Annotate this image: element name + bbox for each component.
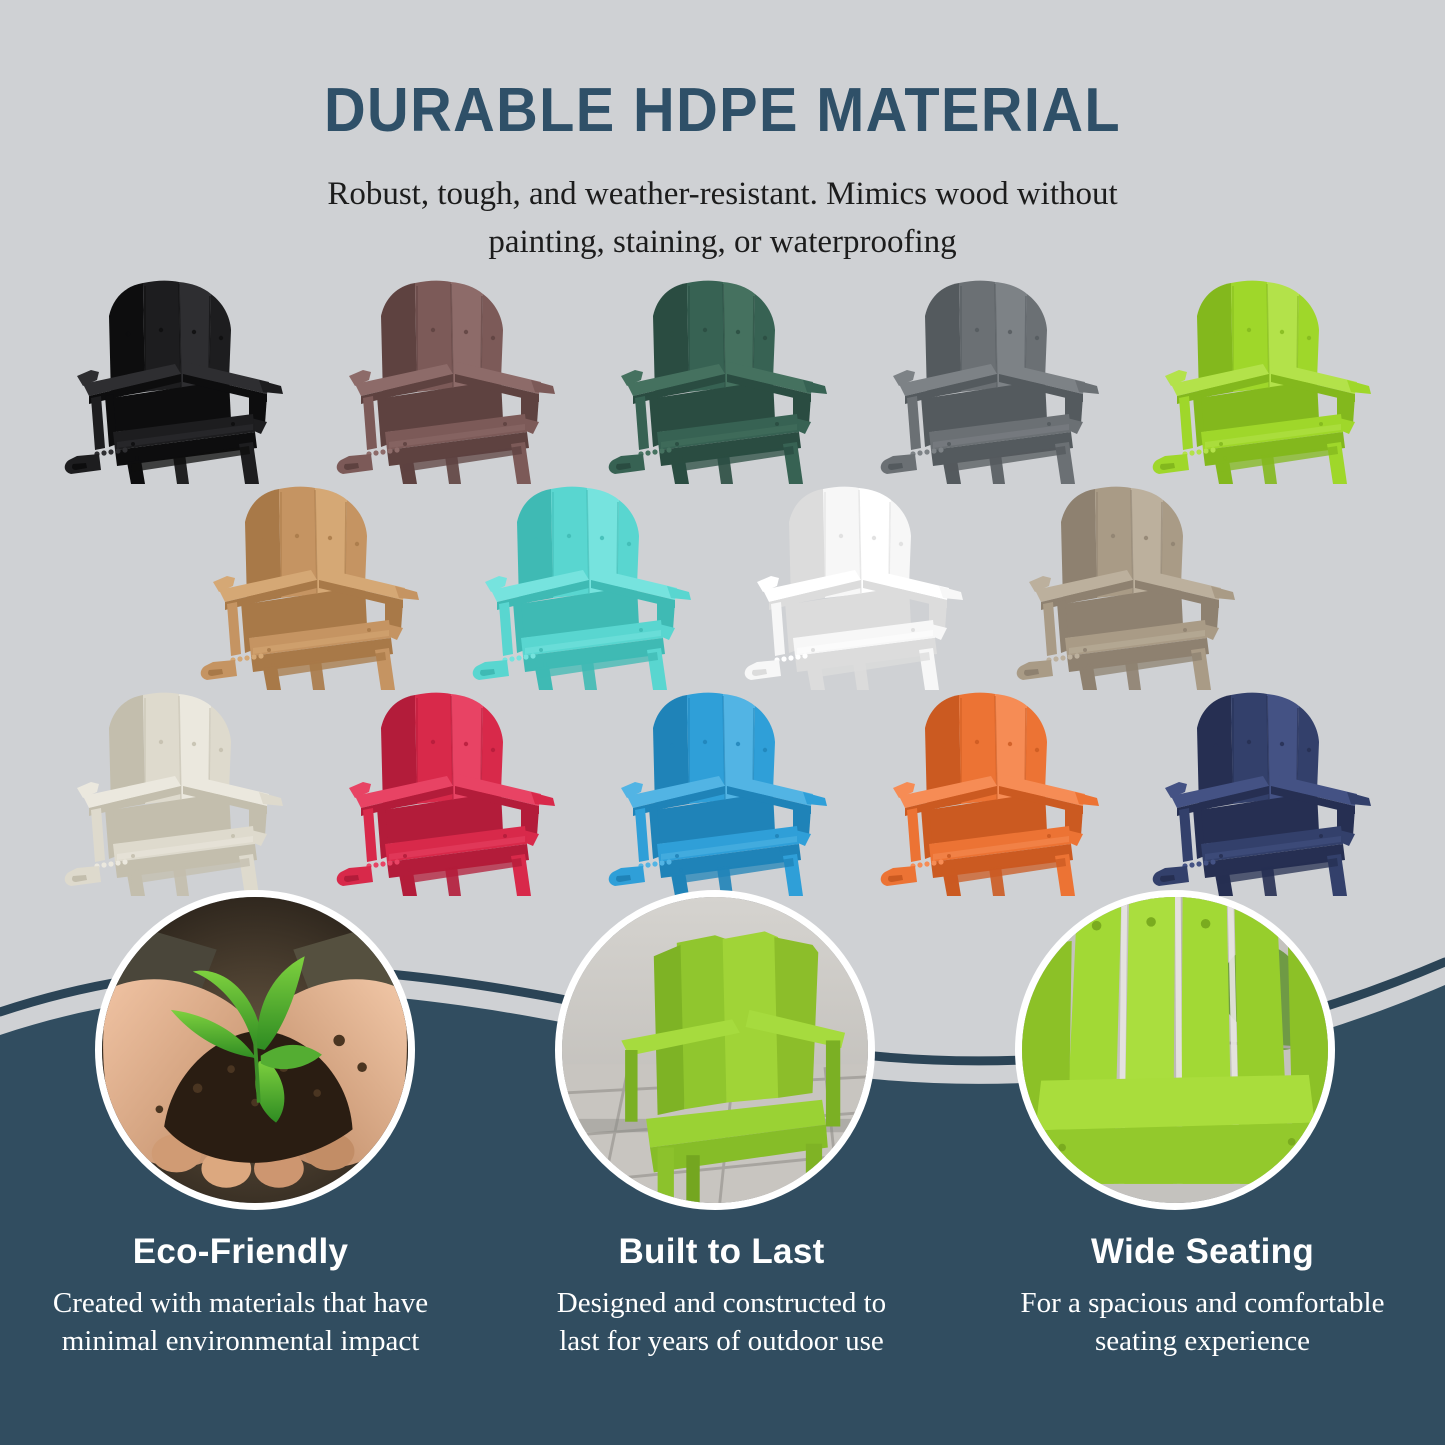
feature-title: Eco-Friendly bbox=[0, 1232, 481, 1272]
subtitle-line-1: Robust, tough, and weather-resistant. Mi… bbox=[327, 176, 1117, 212]
feature-desc-line-1: For a spacious and comfortable bbox=[1020, 1287, 1384, 1319]
feature-wide-seating: Wide Seating For a spacious and comforta… bbox=[962, 1232, 1443, 1361]
page-title: DURABLE HDPE MATERIAL bbox=[51, 0, 1395, 143]
chair-swatch-dark-green[interactable] bbox=[597, 272, 849, 484]
chair-swatch-gray[interactable] bbox=[869, 272, 1121, 484]
adirondack-chair-2-3 bbox=[880, 693, 1098, 896]
chair-swatch-white[interactable] bbox=[733, 478, 985, 690]
chair-row-2 bbox=[0, 478, 1445, 690]
chair-swatch-navy-blue[interactable] bbox=[1141, 684, 1393, 896]
adirondack-chair-0-3 bbox=[880, 281, 1098, 484]
adirondack-chair-1-1 bbox=[472, 487, 690, 690]
header: DURABLE HDPE MATERIAL Robust, tough, and… bbox=[0, 0, 1445, 267]
photo-eco-friendly bbox=[95, 890, 415, 1210]
chair-swatch-teak[interactable] bbox=[189, 478, 441, 690]
adirondack-chair-0-1 bbox=[336, 281, 554, 484]
feature-desc-line-2: seating experience bbox=[1095, 1325, 1310, 1357]
page-subtitle: Robust, tough, and weather-resistant. Mi… bbox=[223, 143, 1223, 267]
adirondack-chair-1-3 bbox=[1016, 487, 1234, 690]
chair-swatch-ivory[interactable] bbox=[53, 684, 305, 896]
adirondack-chair-1-2 bbox=[744, 487, 962, 690]
adirondack-chair-2-4 bbox=[1152, 693, 1370, 896]
chair-swatch-turquoise[interactable] bbox=[461, 478, 713, 690]
chair-seat bbox=[1035, 1075, 1314, 1130]
chair-swatch-black[interactable] bbox=[53, 272, 305, 484]
chair-swatch-red[interactable] bbox=[325, 684, 577, 896]
chair-row-3 bbox=[0, 684, 1445, 896]
chair-swatch-blue[interactable] bbox=[597, 684, 849, 896]
photo-wide-seating bbox=[1015, 890, 1335, 1210]
adirondack-chair-0-2 bbox=[608, 281, 826, 484]
feature-desc-line-2: minimal environmental impact bbox=[62, 1325, 420, 1357]
chair-swatch-brown[interactable] bbox=[325, 272, 577, 484]
feature-desc-line-1: Created with materials that have bbox=[53, 1287, 428, 1319]
adirondack-chair-2-0 bbox=[64, 693, 282, 896]
subtitle-line-2: painting, staining, or waterproofing bbox=[488, 224, 956, 260]
chair-seat-front bbox=[1032, 1123, 1319, 1184]
feature-desc-line-1: Designed and constructed to bbox=[557, 1287, 886, 1319]
feature-captions: Eco-Friendly Created with materials that… bbox=[0, 1232, 1445, 1361]
adirondack-chair-0-4 bbox=[1152, 281, 1370, 484]
chair-row-1 bbox=[0, 272, 1445, 484]
feature-title: Wide Seating bbox=[962, 1232, 1443, 1272]
photo-built-to-last bbox=[555, 890, 875, 1210]
chair-color-grid bbox=[0, 272, 1445, 896]
feature-description: Created with materials that have minimal… bbox=[26, 1284, 456, 1361]
chair-swatch-lime-green[interactable] bbox=[1141, 272, 1393, 484]
feature-description: Designed and constructed to last for yea… bbox=[507, 1284, 937, 1361]
feature-eco-friendly: Eco-Friendly Created with materials that… bbox=[0, 1232, 481, 1361]
chair-swatch-weathered-wood[interactable] bbox=[1005, 478, 1257, 690]
feature-built-to-last: Built to Last Designed and constructed t… bbox=[481, 1232, 962, 1361]
adirondack-chair-0-0 bbox=[64, 281, 282, 484]
feature-description: For a spacious and comfortable seating e… bbox=[988, 1284, 1418, 1361]
adirondack-chair-1-0 bbox=[200, 487, 418, 690]
adirondack-chair-2-2 bbox=[608, 693, 826, 896]
chair-swatch-orange[interactable] bbox=[869, 684, 1121, 896]
feature-desc-line-2: last for years of outdoor use bbox=[559, 1325, 884, 1357]
feature-title: Built to Last bbox=[481, 1232, 962, 1272]
adirondack-chair-2-1 bbox=[336, 693, 554, 896]
feature-photos bbox=[0, 890, 1445, 1220]
chair-arm-right bbox=[1288, 941, 1328, 1184]
